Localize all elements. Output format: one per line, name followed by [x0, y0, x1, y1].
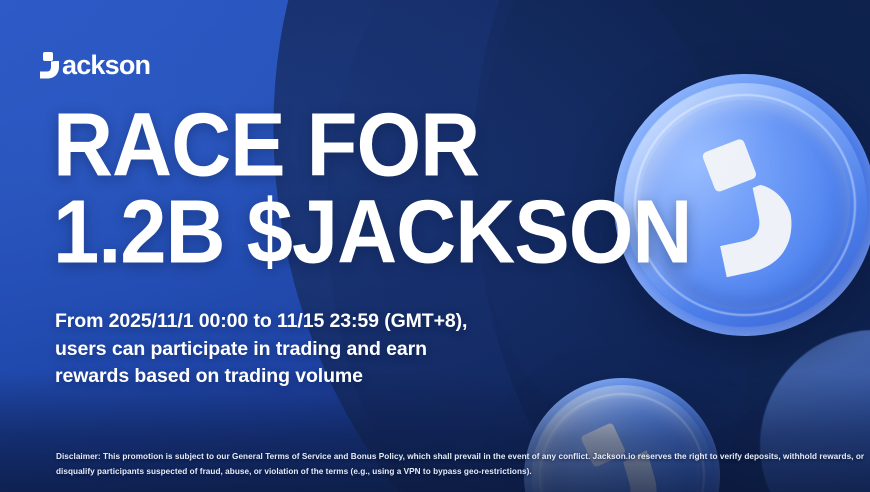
headline-line-1: RACE FOR — [53, 104, 698, 186]
j-dot — [43, 52, 53, 61]
logo-wordmark: ackson — [62, 52, 150, 79]
jackson-j-icon — [40, 52, 60, 79]
headline: RACE FOR 1.2B $JACKSON — [53, 104, 673, 264]
jackson-logo: ackson — [40, 48, 150, 82]
promo-description-line-1: From 2025/11/1 00:00 to 11/15 23:59 (GMT… — [55, 308, 525, 336]
promo-description-line-3: rewards based on trading volume — [55, 363, 525, 391]
promo-banner: ackson RACE FOR 1.2B $JACKSON From 2025/… — [0, 0, 870, 492]
promo-description: From 2025/11/1 00:00 to 11/15 23:59 (GMT… — [55, 308, 525, 391]
disclaimer-text: Disclaimer: This promotion is subject to… — [56, 449, 856, 479]
promo-description-line-2: users can participate in trading and ear… — [55, 336, 525, 364]
j-hook — [40, 61, 59, 79]
disclaimer-line-2: disqualify participants suspected of fra… — [56, 464, 856, 479]
disclaimer-line-1: Disclaimer: This promotion is subject to… — [56, 449, 856, 464]
headline-line-2: 1.2B $JACKSON — [53, 191, 698, 273]
